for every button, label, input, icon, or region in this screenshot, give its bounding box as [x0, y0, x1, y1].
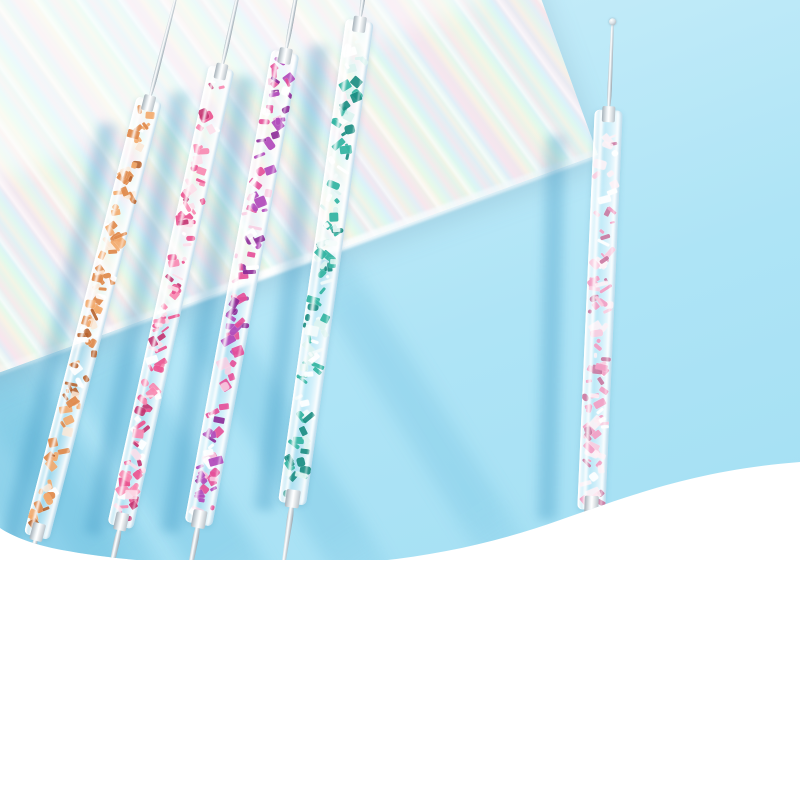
pen-metal-tip-top: [595, 18, 627, 111]
pen-tip-ball: [609, 18, 616, 25]
text-panel: Product usage diagram Nail art tools are…: [0, 560, 800, 800]
pen-tip-rod: [606, 24, 615, 110]
pen-metal-collar-top: [602, 106, 616, 123]
product-photo: [0, 0, 800, 580]
pen-metal-collar-bottom: [584, 496, 599, 515]
product-banner: Product usage diagram Nail art tools are…: [0, 0, 800, 800]
pen-metal-collar-bottom: [285, 489, 301, 509]
pen-metal-collar-top: [352, 16, 367, 34]
